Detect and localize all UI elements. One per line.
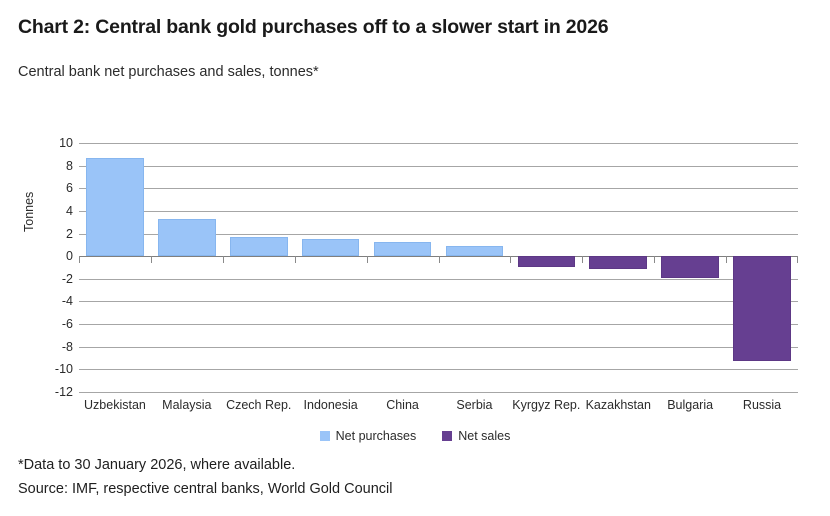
gridline bbox=[79, 166, 798, 167]
y-axis-tick-label: 4 bbox=[27, 205, 73, 218]
x-axis-label-malaysia: Malaysia bbox=[151, 398, 223, 412]
y-axis-tick-label: -2 bbox=[27, 273, 73, 286]
gridline bbox=[79, 324, 798, 325]
legend-swatch-icon bbox=[442, 431, 452, 441]
chart-container: Tonnes 1086420-2-4-6-8-10-12 UzbekistanM… bbox=[0, 0, 830, 516]
x-axis-tick bbox=[79, 256, 80, 263]
legend-item-net-purchases[interactable]: Net purchases bbox=[320, 429, 417, 443]
footnote-line-2: Source: IMF, respective central banks, W… bbox=[18, 481, 392, 497]
x-axis-label-indonesia: Indonesia bbox=[295, 398, 367, 412]
y-axis-tick-label: 6 bbox=[27, 182, 73, 195]
x-axis-ticks bbox=[79, 256, 798, 264]
x-axis-tick bbox=[295, 256, 296, 263]
x-axis-label-serbia: Serbia bbox=[439, 398, 511, 412]
x-axis-tick bbox=[726, 256, 727, 263]
gridline bbox=[79, 211, 798, 212]
y-axis-tick-labels: 1086420-2-4-6-8-10-12 bbox=[19, 143, 73, 392]
y-axis-tick-label: 10 bbox=[27, 137, 73, 150]
bar-russia[interactable] bbox=[733, 256, 791, 361]
x-axis-label-bulgaria: Bulgaria bbox=[654, 398, 726, 412]
x-axis-tick bbox=[797, 256, 798, 263]
x-axis-tick bbox=[151, 256, 152, 263]
gridline bbox=[79, 392, 798, 393]
x-axis-label-uzbekistan: Uzbekistan bbox=[79, 398, 151, 412]
y-axis-tick-label: -4 bbox=[27, 295, 73, 308]
x-axis-label-kyrgyz-rep: Kyrgyz Rep. bbox=[510, 398, 582, 412]
legend-item-net-sales[interactable]: Net sales bbox=[442, 429, 510, 443]
bar-uzbekistan[interactable] bbox=[86, 158, 144, 256]
y-axis-tick-label: -6 bbox=[27, 318, 73, 331]
gridline bbox=[79, 188, 798, 189]
gridline bbox=[79, 279, 798, 280]
x-axis-tick bbox=[510, 256, 511, 263]
bar-malaysia[interactable] bbox=[158, 219, 216, 256]
gridline bbox=[79, 301, 798, 302]
x-axis-tick bbox=[223, 256, 224, 263]
bar-serbia[interactable] bbox=[446, 246, 504, 256]
gridline bbox=[79, 347, 798, 348]
x-axis-label-russia: Russia bbox=[726, 398, 798, 412]
y-axis-tick-label: 2 bbox=[27, 228, 73, 241]
x-axis-tick bbox=[367, 256, 368, 263]
y-axis-tick-label: 8 bbox=[27, 160, 73, 173]
x-axis-label-china: China bbox=[367, 398, 439, 412]
y-axis-tick-label: 0 bbox=[27, 250, 73, 263]
bar-china[interactable] bbox=[374, 242, 432, 256]
x-axis-label-kazakhstan: Kazakhstan bbox=[582, 398, 654, 412]
legend-label: Net sales bbox=[458, 429, 510, 443]
x-axis-label-czech-rep: Czech Rep. bbox=[223, 398, 295, 412]
x-axis-tick bbox=[654, 256, 655, 263]
bar-indonesia[interactable] bbox=[302, 239, 360, 257]
plot-area bbox=[79, 143, 798, 392]
chart-legend: Net purchasesNet sales bbox=[0, 429, 830, 443]
footnotes: *Data to 30 January 2026, where availabl… bbox=[18, 457, 392, 505]
gridline bbox=[79, 369, 798, 370]
legend-label: Net purchases bbox=[336, 429, 417, 443]
footnote-line-1: *Data to 30 January 2026, where availabl… bbox=[18, 457, 392, 473]
y-axis-tick-label: -12 bbox=[27, 386, 73, 399]
legend-swatch-icon bbox=[320, 431, 330, 441]
x-axis-tick bbox=[439, 256, 440, 263]
gridline bbox=[79, 143, 798, 144]
y-axis-tick-label: -10 bbox=[27, 363, 73, 376]
y-axis-tick-label: -8 bbox=[27, 341, 73, 354]
x-axis-tick bbox=[582, 256, 583, 263]
bar-czech-rep[interactable] bbox=[230, 237, 288, 256]
x-axis-category-labels: UzbekistanMalaysiaCzech Rep.IndonesiaChi… bbox=[79, 398, 798, 416]
